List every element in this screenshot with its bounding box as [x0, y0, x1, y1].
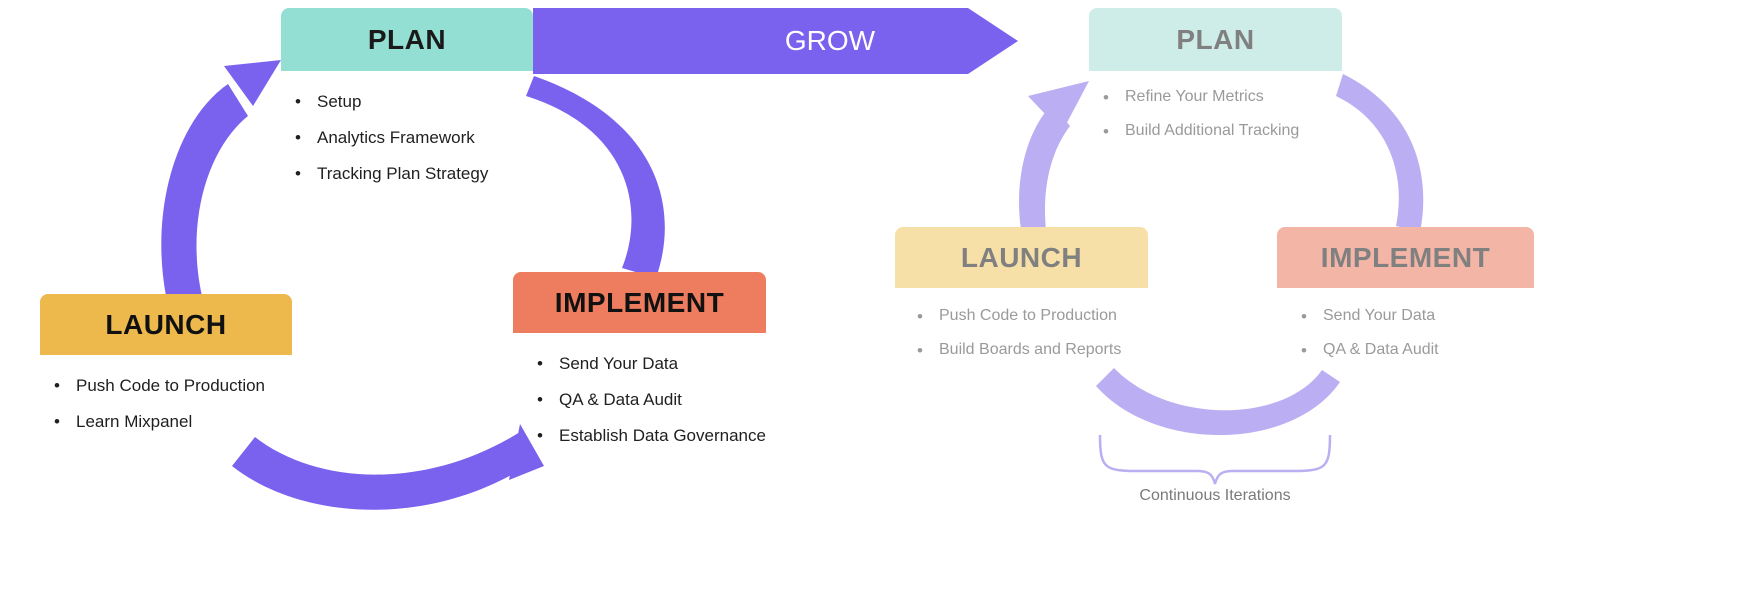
- list-item: QA & Data Audit: [1297, 342, 1534, 359]
- list-item: Setup: [291, 93, 533, 111]
- arrow-plan-to-implement: [526, 76, 665, 278]
- list-item: Build Additional Tracking: [1099, 123, 1342, 140]
- list-item: Push Code to Production: [913, 308, 1148, 325]
- arrow-launch-to-plan: [161, 84, 248, 296]
- node-plan-faded[interactable]: PLAN Refine Your Metrics Build Additiona…: [1089, 8, 1342, 157]
- list-item: Send Your Data: [1297, 308, 1534, 325]
- arrow-plan-to-implement-faded: [1336, 74, 1423, 232]
- plan-active-bullets: Setup Analytics Framework Tracking Plan …: [291, 93, 533, 183]
- node-launch-faded[interactable]: LAUNCH Push Code to Production Build Boa…: [895, 227, 1148, 376]
- list-item: Tracking Plan Strategy: [291, 165, 533, 183]
- launch-faded-title: LAUNCH: [895, 227, 1148, 288]
- implement-active-bullets: Send Your Data QA & Data Audit Establish…: [533, 355, 766, 445]
- node-plan-active[interactable]: PLAN Setup Analytics Framework Tracking …: [281, 8, 533, 201]
- implement-active-title: IMPLEMENT: [513, 272, 766, 333]
- list-item: Establish Data Governance: [533, 427, 766, 445]
- plan-faded-title: PLAN: [1089, 8, 1342, 71]
- launch-faded-bullets: Push Code to Production Build Boards and…: [913, 308, 1148, 359]
- arrow-implement-to-launch-faded: [1096, 368, 1340, 435]
- plan-faded-bullets: Refine Your Metrics Build Additional Tra…: [1099, 89, 1342, 140]
- list-item: Analytics Framework: [291, 129, 533, 147]
- plan-active-title: PLAN: [281, 8, 533, 71]
- launch-active-bullets: Push Code to Production Learn Mixpanel: [50, 377, 292, 431]
- list-item: Learn Mixpanel: [50, 413, 292, 431]
- list-item: Push Code to Production: [50, 377, 292, 395]
- launch-active-title: LAUNCH: [40, 294, 292, 355]
- node-launch-active[interactable]: LAUNCH Push Code to Production Learn Mix…: [40, 294, 292, 449]
- lifecycle-diagram: GROW PLAN Setup Analytics Framework Trac…: [0, 0, 1740, 589]
- list-item: Refine Your Metrics: [1099, 89, 1342, 106]
- arrow-launch-to-plan-head-faded: [1028, 81, 1089, 132]
- implement-faded-bullets: Send Your Data QA & Data Audit: [1297, 308, 1534, 359]
- node-implement-active[interactable]: IMPLEMENT Send Your Data QA & Data Audit…: [513, 272, 766, 463]
- grow-banner-label: GROW: [700, 25, 960, 57]
- continuous-iterations-brace: [1100, 435, 1330, 484]
- implement-faded-title: IMPLEMENT: [1277, 227, 1534, 288]
- list-item: Send Your Data: [533, 355, 766, 373]
- list-item: Build Boards and Reports: [913, 342, 1148, 359]
- node-implement-faded[interactable]: IMPLEMENT Send Your Data QA & Data Audit: [1277, 227, 1534, 376]
- list-item: QA & Data Audit: [533, 391, 766, 409]
- continuous-iterations-label: Continuous Iterations: [1085, 487, 1345, 505]
